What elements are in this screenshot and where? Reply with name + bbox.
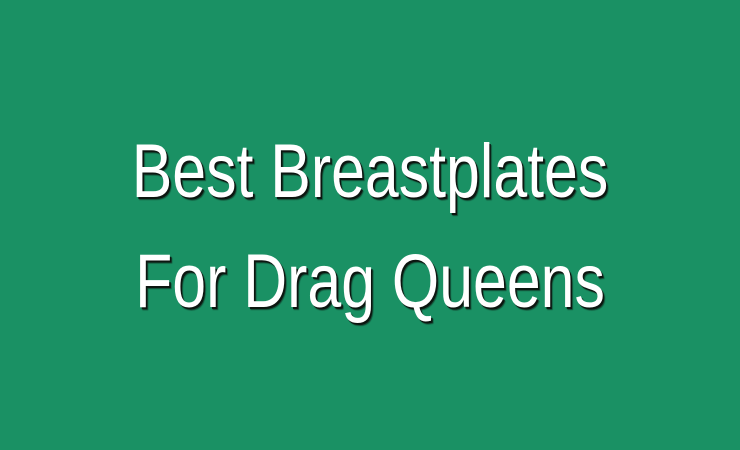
page-title: Best Breastplates For Drag Queens — [0, 114, 740, 336]
title-line-2: For Drag Queens — [74, 228, 666, 336]
title-line-1: Best Breastplates — [74, 118, 666, 226]
title-banner: Best Breastplates For Drag Queens — [0, 0, 740, 450]
